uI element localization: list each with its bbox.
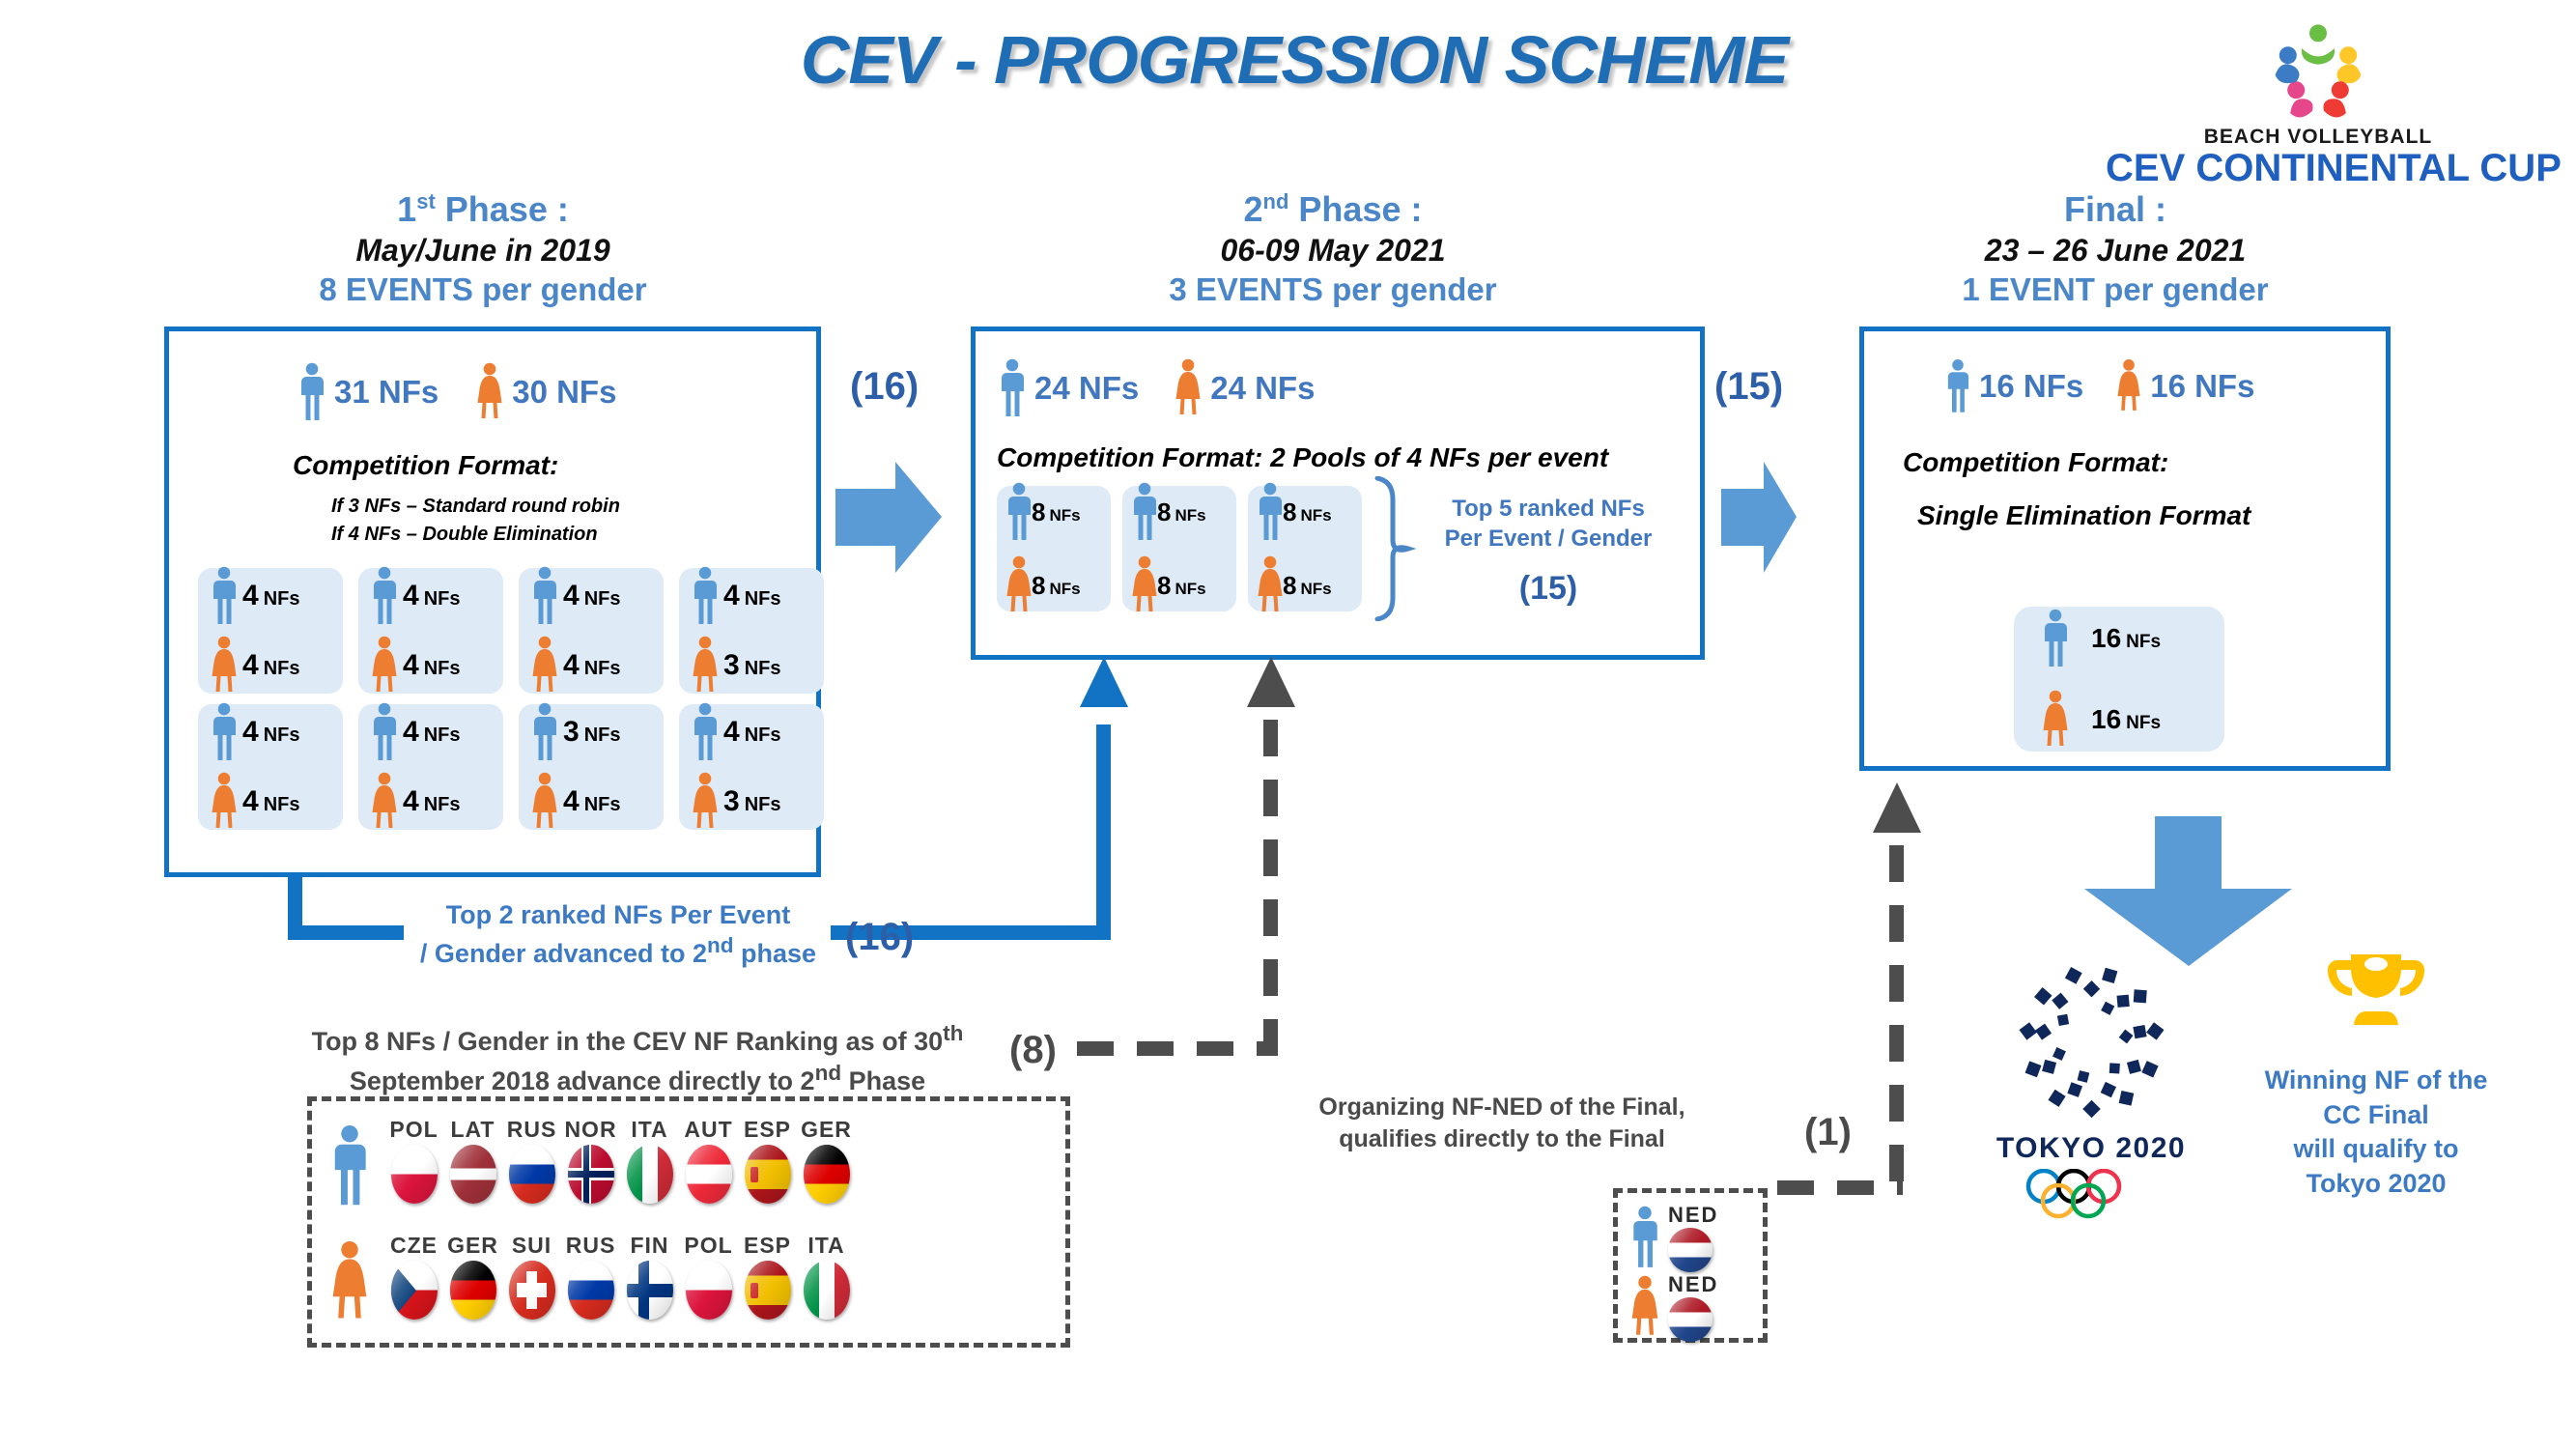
phase1-event-cell: 4NFs4NFs: [358, 704, 503, 830]
female-figure-icon: [693, 636, 718, 696]
flags-men-figure: [331, 1124, 368, 1212]
cell-women-unit: NFs: [584, 658, 621, 679]
female-figure-icon: [693, 772, 718, 832]
flag-code: ITA: [620, 1117, 679, 1143]
flag-item: AUT: [679, 1117, 738, 1204]
cell-men-num: 4: [723, 716, 740, 748]
flag-code: RUS: [561, 1233, 620, 1259]
cell-men-unit: NFs: [584, 724, 621, 746]
cell-women-unit: NFs: [745, 794, 781, 815]
cell-men-unit: NFs: [424, 588, 461, 610]
cell-men-num: 3: [563, 716, 580, 748]
top2-count: (16): [845, 916, 914, 959]
cell-women-num: 4: [563, 785, 580, 817]
trophy-line4: Tokyo 2020: [2231, 1167, 2521, 1202]
cell-women-unit: NFs: [1300, 580, 1331, 598]
phase2-pool-grid: 8NFs8NFs8NFs8NFs8NFs8NFs: [997, 486, 1362, 611]
cell-men-unit: NFs: [264, 724, 300, 746]
cell-women-num: 4: [403, 785, 419, 817]
final-heading: Final : 23 – 26 June 2021 1 EVENT per ge…: [1816, 188, 2415, 309]
cell-men-row: 3NFs: [532, 702, 664, 762]
flag-nor-icon: [568, 1145, 614, 1204]
top2-arrow-head-icon: [1080, 657, 1128, 734]
top8-flags-panel: POLLATRUSNORITAAUTESPGER CZEGERSUIRUSFIN…: [307, 1096, 1070, 1348]
flag-code: ESP: [738, 1117, 797, 1143]
male-figure-icon: [693, 702, 718, 762]
flag-code: NOR: [561, 1117, 620, 1143]
male-figure-icon: [212, 702, 237, 762]
female-figure-icon: [1175, 358, 1201, 418]
flag-code: FIN: [620, 1233, 679, 1259]
flag-cze-icon: [391, 1261, 438, 1320]
phase2-date: 06-09 May 2021: [966, 231, 1700, 270]
top2-note: Top 2 ranked NFs Per Event / Gender adva…: [415, 898, 821, 970]
cell-women-row: 4NFs: [372, 772, 503, 832]
final-cell-men-unit: NFs: [2126, 632, 2161, 652]
cell-men-unit: NFs: [1300, 506, 1331, 525]
final-gender-counts: 16 NFs 16 NFs: [1946, 358, 2254, 414]
cell-women-num: 4: [563, 649, 580, 681]
cell-women-num: 3: [723, 649, 740, 681]
cell-women-unit: NFs: [264, 794, 300, 815]
flag-pol-icon: [686, 1261, 732, 1320]
cell-women-unit: NFs: [1175, 580, 1205, 598]
cell-women-unit: NFs: [264, 658, 300, 679]
top5-count: (15): [1418, 567, 1679, 610]
ned-women-row: NED: [1631, 1272, 1718, 1342]
p1-to-p2-count: (16): [850, 365, 919, 409]
cell-women-row: 4NFs: [212, 772, 343, 832]
female-figure-icon: [477, 362, 502, 422]
trophy-line2: CC Final: [2231, 1098, 2521, 1133]
flag-item: RUS: [502, 1117, 561, 1204]
phase2-heading: 2nd Phase : 06-09 May 2021 3 EVENTS per …: [966, 188, 1700, 309]
cell-men-num: 4: [563, 580, 580, 611]
phase2-events: 3 EVENTS per gender: [966, 270, 1700, 309]
host-note: Organizing NF-NED of the Final, qualifie…: [1285, 1092, 1719, 1154]
phase1-event-cell: 4NFs4NFs: [358, 568, 503, 694]
trophy-icon: [2231, 947, 2521, 1056]
male-figure-icon: [1132, 482, 1157, 542]
cell-women-num: 8: [1032, 571, 1045, 600]
top8-line1: Top 8 NFs / Gender in the CEV NF Ranking…: [290, 1019, 985, 1059]
phase1-event-cell: 4NFs3NFs: [679, 568, 824, 694]
female-figure-icon: [532, 636, 557, 696]
flag-ita-icon: [627, 1145, 673, 1204]
trophy-line1: Winning NF of the: [2231, 1064, 2521, 1098]
tokyo2020-wordmark: TOKYO 2020: [1980, 1132, 2202, 1165]
phase1-event-cell: 4NFs4NFs: [519, 568, 664, 694]
olympic-rings-icon: [2019, 1169, 2164, 1217]
phase2-format-title: Competition Format: 2 Pools of 4 NFs per…: [997, 442, 1608, 473]
final-cell-men-num: 16: [2091, 623, 2121, 653]
phase1-men-count-label: 31 NFs: [334, 374, 439, 411]
cell-men-row: 8NFs: [1006, 482, 1111, 542]
p2-to-final-arrow-icon: [1721, 462, 1797, 578]
flag-code: ITA: [797, 1233, 856, 1259]
male-figure-icon: [532, 702, 557, 762]
phase2-men-count: 24 NFs: [1000, 358, 1139, 418]
phase2-men-count-label: 24 NFs: [1034, 370, 1139, 407]
male-figure-icon: [299, 362, 325, 422]
top8-path-segment-up: [1263, 720, 1278, 1056]
flag-fin-icon: [627, 1261, 673, 1320]
flag-ger-icon: [450, 1261, 496, 1320]
cell-women-unit: NFs: [424, 794, 461, 815]
phase1-title: 1st Phase :: [145, 188, 821, 231]
phase1-women-count-label: 30 NFs: [512, 374, 616, 411]
female-figure-icon: [1006, 555, 1032, 615]
host-arrow-head-icon: [1873, 782, 1921, 857]
flag-lat-icon: [450, 1145, 496, 1204]
flag-item: ESP: [738, 1117, 797, 1204]
final-cell-women-unit: NFs: [2126, 713, 2161, 733]
cell-men-row: 4NFs: [212, 566, 343, 626]
phase1-event-cell: 4NFs3NFs: [679, 704, 824, 830]
cell-men-row: 4NFs: [372, 566, 503, 626]
host-ned-box: NED NED: [1613, 1188, 1768, 1343]
top2-line2: / Gender advanced to 2nd phase: [415, 932, 821, 971]
male-figure-icon: [1000, 358, 1025, 418]
final-format-line: Single Elimination Format: [1917, 500, 2250, 531]
flag-code: AUT: [679, 1117, 738, 1143]
host-path-segment-up: [1889, 845, 1904, 1193]
cell-men-unit: NFs: [1049, 506, 1080, 525]
final-title: Final :: [1816, 188, 2415, 231]
female-figure-icon: [331, 1240, 368, 1323]
cell-women-unit: NFs: [745, 658, 781, 679]
flag-code: CZE: [384, 1233, 443, 1259]
male-figure-icon: [532, 566, 557, 626]
female-figure-icon: [1132, 555, 1157, 615]
phase1-event-grid: 4NFs4NFs4NFs4NFs4NFs4NFs4NFs3NFs4NFs4NFs…: [198, 568, 824, 830]
flag-esp-icon: [745, 1261, 791, 1320]
cell-women-unit: NFs: [584, 794, 621, 815]
cell-men-row: 8NFs: [1132, 482, 1236, 542]
cell-women-unit: NFs: [1049, 580, 1080, 598]
phase1-gender-counts: 31 NFs 30 NFs: [299, 362, 616, 422]
top8-arrow-head-icon: [1247, 657, 1295, 731]
final-event-cell: 16NFs 16NFs: [2014, 607, 2224, 752]
flag-aut-icon: [686, 1145, 732, 1204]
ned-men-code: NED: [1668, 1203, 1718, 1228]
flag-item: RUS: [561, 1233, 620, 1320]
final-men-count-label: 16 NFs: [1979, 368, 2083, 405]
top8-note: Top 8 NFs / Gender in the CEV NF Ranking…: [290, 1019, 985, 1098]
phase2-title: 2nd Phase :: [966, 188, 1700, 231]
flag-item: FIN: [620, 1233, 679, 1320]
phase2-top5-note: Top 5 ranked NFs Per Event / Gender (15): [1418, 494, 1679, 611]
female-figure-icon: [212, 636, 237, 696]
flag-item: ITA: [620, 1117, 679, 1204]
flag-code: GER: [443, 1233, 502, 1259]
flag-code: GER: [797, 1117, 856, 1143]
top2-path-segment-up: [1096, 724, 1111, 940]
phase2-women-count: 24 NFs: [1175, 358, 1315, 418]
phase1-event-cell: 4NFs4NFs: [198, 704, 343, 830]
male-figure-icon: [1258, 482, 1283, 542]
female-figure-icon: [1258, 555, 1283, 615]
cell-men-num: 8: [1032, 497, 1045, 526]
final-cell-women-row: 16NFs: [2043, 690, 2224, 750]
final-cell-men-row: 16NFs: [2043, 609, 2224, 668]
male-figure-icon: [1946, 358, 1969, 414]
flag-code: LAT: [443, 1117, 502, 1143]
p1-to-p2-arrow-icon: [835, 462, 942, 578]
cev-continental-cup-logo: BEACH VOLLEYBALL CEV CONTINENTAL CUP: [2106, 14, 2531, 190]
phase1-event-cell: 3NFs4NFs: [519, 704, 664, 830]
tokyo2020-emblem-icon: [1980, 956, 2202, 1130]
male-figure-icon: [2043, 609, 2068, 668]
cell-women-num: 8: [1283, 571, 1296, 600]
flag-item: GER: [797, 1117, 856, 1204]
top2-path-segment-right1: [288, 925, 404, 940]
cev-people-circle-icon: [2260, 14, 2376, 129]
male-figure-icon: [331, 1124, 368, 1207]
flags-women-row: CZEGERSUIRUSFINPOLESPITA: [384, 1233, 856, 1320]
cell-men-num: 4: [242, 580, 259, 611]
trophy-block: Winning NF of the CC Final will qualify …: [2231, 947, 2521, 1202]
cell-women-row: 8NFs: [1258, 555, 1362, 615]
cell-men-num: 8: [1157, 497, 1171, 526]
cell-men-unit: NFs: [745, 588, 781, 610]
logo-title: CEV CONTINENTAL CUP: [2106, 147, 2531, 190]
phase1-format-line1: If 3 NFs – Standard round robin: [331, 493, 620, 521]
flag-code: SUI: [502, 1233, 561, 1259]
final-men-count: 16 NFs: [1946, 358, 2083, 414]
flag-item: SUI: [502, 1233, 561, 1320]
host-path-segment-right: [1777, 1180, 1903, 1195]
final-events: 1 EVENT per gender: [1816, 270, 2415, 309]
cell-men-unit: NFs: [584, 588, 621, 610]
host-line1: Organizing NF-NED of the Final,: [1285, 1092, 1719, 1123]
ned-women-code: NED: [1668, 1272, 1718, 1297]
phase1-format-line2: If 4 NFs – Double Elimination: [331, 521, 598, 549]
cell-women-row: 3NFs: [693, 772, 824, 832]
flag-item: POL: [679, 1233, 738, 1320]
phase1-events: 8 EVENTS per gender: [145, 270, 821, 309]
cell-men-num: 4: [242, 716, 259, 748]
male-figure-icon: [1006, 482, 1032, 542]
host-line2: qualifies directly to the Final: [1285, 1123, 1719, 1155]
phase1-women-count: 30 NFs: [477, 362, 616, 422]
female-figure-icon: [532, 772, 557, 832]
cell-women-row: 8NFs: [1132, 555, 1236, 615]
cell-men-num: 4: [723, 580, 740, 611]
top8-line2: September 2018 advance directly to 2nd P…: [290, 1059, 985, 1098]
flag-item: POL: [384, 1117, 443, 1204]
phase1-men-count: 31 NFs: [299, 362, 439, 422]
cell-women-num: 8: [1157, 571, 1171, 600]
top5-line2: Per Event / Gender: [1418, 524, 1679, 554]
flag-sui-icon: [509, 1261, 555, 1320]
flag-code: POL: [679, 1233, 738, 1259]
cell-women-row: 4NFs: [372, 636, 503, 696]
cell-men-unit: NFs: [745, 724, 781, 746]
female-figure-icon: [212, 772, 237, 832]
flags-men-row: POLLATRUSNORITAAUTESPGER: [384, 1117, 856, 1204]
male-figure-icon: [372, 702, 397, 762]
flag-rus-icon: [509, 1145, 555, 1204]
cell-men-row: 4NFs: [693, 566, 824, 626]
cell-men-unit: NFs: [424, 724, 461, 746]
flag-pol-icon: [391, 1145, 438, 1204]
cell-men-row: 4NFs: [212, 702, 343, 762]
final-format-title: Competition Format:: [1903, 447, 2168, 478]
phase1-event-cell: 4NFs4NFs: [198, 568, 343, 694]
cell-men-num: 4: [403, 580, 419, 611]
flag-rus-icon: [568, 1261, 614, 1320]
female-figure-icon: [2043, 690, 2068, 750]
phase2-pool-cell: 8NFs8NFs: [1248, 486, 1362, 611]
phase2-box: 24 NFs 24 NFs Competition Format: 2 Pool…: [971, 327, 1705, 660]
male-figure-icon: [693, 566, 718, 626]
flag-ita-icon: [804, 1261, 850, 1320]
page-title: CEV - PROGRESSION SCHEME: [637, 21, 1951, 99]
female-figure-icon: [372, 636, 397, 696]
phase1-box: 31 NFs 30 NFs Competition Format: If 3 N…: [164, 327, 821, 877]
cell-men-num: 8: [1283, 497, 1296, 526]
cell-women-num: 4: [242, 649, 259, 681]
pool-brace-icon: [1372, 476, 1416, 626]
trophy-line3: will qualify to: [2231, 1132, 2521, 1167]
male-figure-icon: [1631, 1206, 1658, 1269]
female-figure-icon: [372, 772, 397, 832]
phase1-heading: 1st Phase : May/June in 2019 8 EVENTS pe…: [145, 188, 821, 309]
tokyo2020-logo: TOKYO 2020: [1980, 956, 2202, 1217]
male-figure-icon: [212, 566, 237, 626]
male-figure-icon: [372, 566, 397, 626]
phase2-pool-cell: 8NFs8NFs: [997, 486, 1111, 611]
cell-men-num: 4: [403, 716, 419, 748]
cell-women-num: 4: [403, 649, 419, 681]
flag-esp-icon: [745, 1145, 791, 1204]
flag-code: POL: [384, 1117, 443, 1143]
ned-men-row: NED: [1631, 1203, 1718, 1272]
flag-code: RUS: [502, 1117, 561, 1143]
cell-women-row: 8NFs: [1006, 555, 1111, 615]
cell-men-unit: NFs: [264, 588, 300, 610]
final-women-count-label: 16 NFs: [2150, 368, 2254, 405]
flag-ned-icon: [1668, 1228, 1713, 1272]
flag-item: ESP: [738, 1233, 797, 1320]
final-box: 16 NFs 16 NFs Competition Format: Single…: [1859, 327, 2391, 771]
cell-men-row: 8NFs: [1258, 482, 1362, 542]
cell-men-row: 4NFs: [372, 702, 503, 762]
cell-women-num: 3: [723, 785, 740, 817]
final-date: 23 – 26 June 2021: [1816, 231, 2415, 270]
top2-line1: Top 2 ranked NFs Per Event: [415, 898, 821, 932]
trophy-note: Winning NF of the CC Final will qualify …: [2231, 1064, 2521, 1202]
phase2-pool-cell: 8NFs8NFs: [1122, 486, 1236, 611]
phase1-date: May/June in 2019: [145, 231, 821, 270]
phase1-format-title: Competition Format:: [293, 450, 558, 481]
female-figure-icon: [2117, 358, 2140, 414]
cell-women-num: 4: [242, 785, 259, 817]
flag-code: ESP: [738, 1233, 797, 1259]
cell-women-row: 4NFs: [212, 636, 343, 696]
phase2-women-count-label: 24 NFs: [1210, 370, 1315, 407]
flag-item: ITA: [797, 1233, 856, 1320]
cell-women-row: 4NFs: [532, 636, 664, 696]
flag-item: NOR: [561, 1117, 620, 1204]
host-count: (1): [1804, 1111, 1852, 1154]
flag-item: CZE: [384, 1233, 443, 1320]
cell-men-row: 4NFs: [693, 702, 824, 762]
cell-women-row: 3NFs: [693, 636, 824, 696]
top8-path-segment-right: [1077, 1041, 1278, 1056]
phase2-gender-counts: 24 NFs 24 NFs: [1000, 358, 1315, 418]
cell-women-unit: NFs: [424, 658, 461, 679]
final-women-count: 16 NFs: [2117, 358, 2254, 414]
p2-to-final-count: (15): [1714, 365, 1783, 409]
flag-item: LAT: [443, 1117, 502, 1204]
top5-line1: Top 5 ranked NFs: [1418, 494, 1679, 524]
flags-women-figure: [331, 1240, 368, 1328]
flag-ned-icon: [1668, 1297, 1713, 1342]
final-cell-women-num: 16: [2091, 704, 2121, 734]
cell-men-row: 4NFs: [532, 566, 664, 626]
flag-item: GER: [443, 1233, 502, 1320]
cell-men-unit: NFs: [1175, 506, 1205, 525]
flag-ger-icon: [804, 1145, 850, 1204]
cell-women-row: 4NFs: [532, 772, 664, 832]
female-figure-icon: [1631, 1275, 1658, 1339]
top8-count: (8): [1009, 1029, 1057, 1072]
